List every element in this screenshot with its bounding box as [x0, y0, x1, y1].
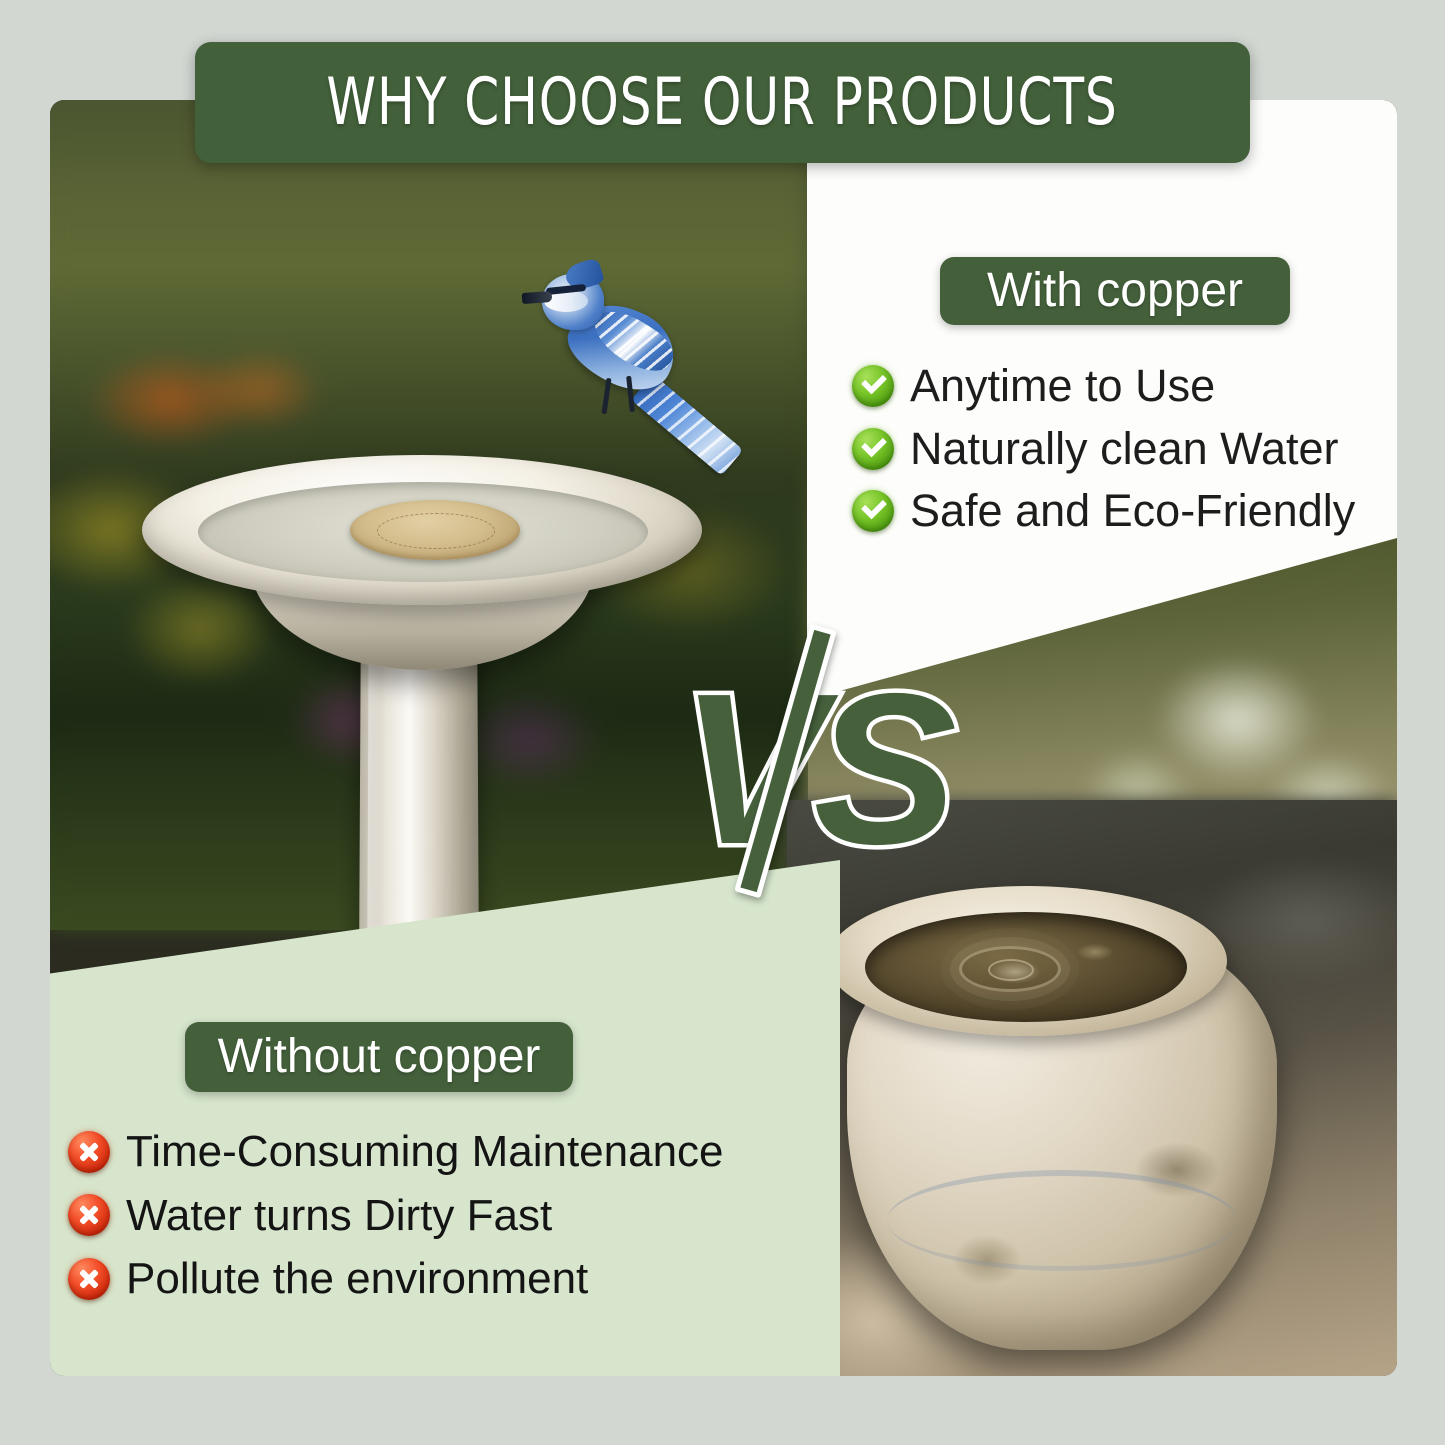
list-item: Anytime to Use	[852, 362, 1382, 411]
with-copper-badge: With copper	[940, 257, 1290, 325]
dirty-pot-bands	[887, 1170, 1237, 1271]
birdbath-photo	[50, 100, 808, 930]
list-item-label: Safe and Eco-Friendly	[910, 487, 1355, 536]
blue-jay	[520, 260, 740, 490]
with-copper-badge-label: With copper	[987, 267, 1243, 315]
list-item-label: Time-Consuming Maintenance	[126, 1128, 724, 1176]
page-title: WHY CHOOSE OUR PRODUCTS	[327, 70, 1118, 135]
blue-jay-tail	[631, 374, 743, 476]
infographic-canvas: WHY CHOOSE OUR PRODUCTS With copper Anyt…	[0, 0, 1445, 1445]
x-circle-icon	[68, 1131, 110, 1173]
dirty-pot-photo	[787, 800, 1397, 1376]
check-circle-icon	[852, 365, 894, 407]
check-circle-icon	[852, 490, 894, 532]
list-item: Naturally clean Water	[852, 425, 1382, 474]
blue-jay-beak	[522, 291, 553, 304]
without-copper-badge-label: Without copper	[218, 1033, 541, 1081]
x-circle-icon	[68, 1194, 110, 1236]
water-ripple	[959, 946, 1061, 992]
birdbath-pedestal	[359, 622, 479, 952]
check-circle-icon	[852, 428, 894, 470]
list-item: Pollute the environment	[68, 1255, 788, 1303]
blue-jay-leg-front	[602, 378, 612, 414]
list-item-label: Pollute the environment	[126, 1255, 588, 1303]
copper-disc	[350, 500, 520, 560]
with-copper-benefit-list: Anytime to Use Naturally clean Water Saf…	[852, 362, 1382, 550]
without-copper-badge: Without copper	[185, 1022, 573, 1092]
list-item: Time-Consuming Maintenance	[68, 1128, 788, 1176]
list-item: Safe and Eco-Friendly	[852, 487, 1382, 536]
list-item: Water turns Dirty Fast	[68, 1192, 788, 1240]
page-title-banner: WHY CHOOSE OUR PRODUCTS	[195, 42, 1250, 163]
x-circle-icon	[68, 1258, 110, 1300]
list-item-label: Naturally clean Water	[910, 425, 1339, 474]
list-item-label: Anytime to Use	[910, 362, 1215, 411]
without-copper-drawback-list: Time-Consuming Maintenance Water turns D…	[68, 1128, 788, 1319]
list-item-label: Water turns Dirty Fast	[126, 1192, 552, 1240]
